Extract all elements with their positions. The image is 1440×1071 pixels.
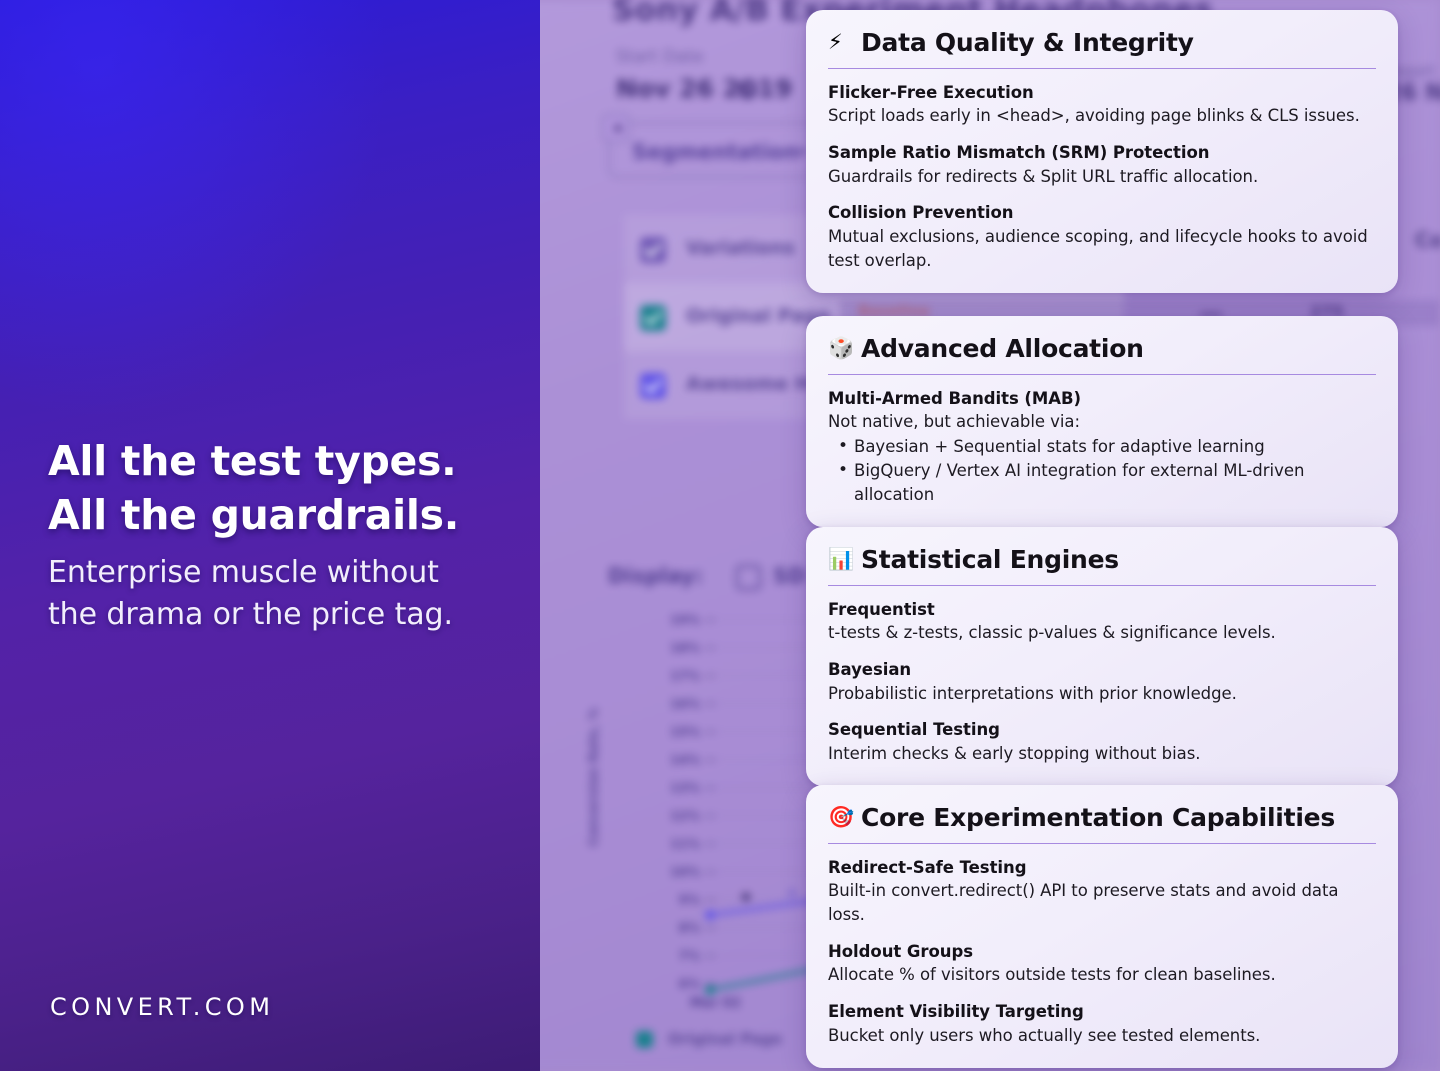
card-header: 📊 Statistical Engines bbox=[828, 546, 1376, 585]
feature-card-statistical-engines: 📊 Statistical Engines Frequentist t-test… bbox=[806, 527, 1398, 786]
feature-item: Multi-Armed Bandits (MAB) Not native, bu… bbox=[828, 388, 1376, 507]
divider bbox=[828, 843, 1376, 845]
feature-title: Sample Ratio Mismatch (SRM) Protection bbox=[828, 142, 1376, 164]
bar-chart-icon: 📊 bbox=[828, 549, 852, 570]
checkbox-original-page[interactable] bbox=[640, 305, 666, 331]
feature-card-core-experimentation: 🎯 Core Experimentation Capabilities Redi… bbox=[806, 785, 1398, 1068]
legend-label: Original Page bbox=[668, 1030, 782, 1048]
divider bbox=[828, 585, 1376, 587]
feature-item: Collision Prevention Mutual exclusions, … bbox=[828, 202, 1376, 272]
feature-desc: t-tests & z-tests, classic p-values & si… bbox=[828, 621, 1376, 645]
feature-title: Multi-Armed Bandits (MAB) bbox=[828, 388, 1376, 410]
feature-item: Bayesian Probabilistic interpretations w… bbox=[828, 659, 1376, 705]
chart-y-axis-label: Conversion Rate, % bbox=[586, 708, 600, 847]
list-item: Bayesian + Sequential stats for adaptive… bbox=[828, 435, 1376, 459]
feature-desc: Guardrails for redirects & Split URL tra… bbox=[828, 165, 1376, 189]
feature-item: Element Visibility Targeting Bucket only… bbox=[828, 1001, 1376, 1047]
feature-title: Flicker-Free Execution bbox=[828, 82, 1376, 104]
card-header: 🎲 Advanced Allocation bbox=[828, 335, 1376, 374]
page-title: All the test types. All the guardrails. bbox=[48, 434, 459, 542]
collapse-toggle-icon[interactable] bbox=[602, 114, 630, 142]
display-option-sd: SD bbox=[773, 564, 806, 588]
feature-desc: Mutual exclusions, audience scoping, and… bbox=[828, 225, 1376, 273]
y-tick: 9% bbox=[660, 892, 700, 907]
feature-title: Holdout Groups bbox=[828, 941, 1376, 963]
y-tick: 10% bbox=[660, 864, 700, 879]
feature-item: Frequentist t-tests & z-tests, classic p… bbox=[828, 599, 1376, 645]
feature-item: Redirect-Safe Testing Built-in convert.r… bbox=[828, 857, 1376, 927]
feature-desc: Not native, but achievable via: bbox=[828, 410, 1376, 434]
feature-item: Sample Ratio Mismatch (SRM) Protection G… bbox=[828, 142, 1376, 188]
list-item: BigQuery / Vertex AI integration for ext… bbox=[828, 459, 1376, 507]
feature-title: Redirect-Safe Testing bbox=[828, 857, 1376, 879]
feature-desc: Probabilistic interpretations with prior… bbox=[828, 682, 1376, 706]
headline-line-2: All the guardrails. bbox=[48, 488, 459, 542]
display-checkbox[interactable] bbox=[736, 565, 761, 590]
y-tick: 6% bbox=[660, 976, 700, 991]
y-tick: 19% bbox=[660, 612, 700, 627]
feature-item: Flicker-Free Execution Script loads earl… bbox=[828, 82, 1376, 128]
feature-desc: Bucket only users who actually see teste… bbox=[828, 1024, 1376, 1048]
y-tick: 7% bbox=[660, 948, 700, 963]
direct-hit-icon: 🎯 bbox=[828, 807, 852, 828]
feature-card-advanced-allocation: 🎲 Advanced Allocation Multi-Armed Bandit… bbox=[806, 316, 1398, 527]
feature-title: Frequentist bbox=[828, 599, 1376, 621]
feature-card-data-quality: ⚡ Data Quality & Integrity Flicker-Free … bbox=[806, 10, 1398, 293]
y-tick: 14% bbox=[660, 752, 700, 767]
card-title: Core Experimentation Capabilities bbox=[861, 804, 1335, 832]
feature-desc: Interim checks & early stopping without … bbox=[828, 742, 1376, 766]
chevron-down-icon[interactable]: ▾ bbox=[798, 142, 806, 161]
feature-desc: Allocate % of visitors outside tests for… bbox=[828, 963, 1376, 987]
feature-desc: Script loads early in <head>, avoiding p… bbox=[828, 104, 1376, 128]
segmentation-label: Segmentation bbox=[632, 140, 798, 164]
feature-title: Collision Prevention bbox=[828, 202, 1376, 224]
subhead-line-2: the drama or the price tag. bbox=[48, 594, 453, 636]
checkbox-variations[interactable] bbox=[640, 237, 666, 263]
slide-canvas: Sony A/B Experiment Headphones Start Dat… bbox=[0, 0, 1440, 1071]
feature-item: Holdout Groups Allocate % of visitors ou… bbox=[828, 941, 1376, 987]
x-tick: Mar 02 bbox=[690, 996, 741, 1011]
column-header: Co bbox=[1415, 228, 1440, 252]
feature-desc: Built-in convert.redirect() API to prese… bbox=[828, 879, 1376, 927]
y-tick: 18% bbox=[660, 640, 700, 655]
y-tick: 16% bbox=[660, 696, 700, 711]
checkbox-awesome-headphones[interactable] bbox=[640, 373, 666, 399]
clock-icon bbox=[738, 80, 757, 99]
page-subtitle: Enterprise muscle without the drama or t… bbox=[48, 552, 453, 636]
legend-swatch bbox=[636, 1031, 653, 1048]
card-title: Statistical Engines bbox=[861, 546, 1119, 574]
card-header: 🎯 Core Experimentation Capabilities bbox=[828, 804, 1376, 843]
start-date-value: Nov 26 2019 bbox=[616, 74, 792, 103]
y-tick: 11% bbox=[660, 836, 700, 851]
divider bbox=[828, 374, 1376, 376]
feature-bullet-list: Bayesian + Sequential stats for adaptive… bbox=[828, 435, 1376, 507]
high-voltage-icon: ⚡ bbox=[828, 32, 852, 53]
card-title: Data Quality & Integrity bbox=[861, 29, 1194, 57]
feature-item: Sequential Testing Interim checks & earl… bbox=[828, 719, 1376, 765]
y-tick: 17% bbox=[660, 668, 700, 683]
y-tick: 15% bbox=[660, 724, 700, 739]
y-tick: 13% bbox=[660, 780, 700, 795]
card-header: ⚡ Data Quality & Integrity bbox=[828, 29, 1376, 68]
feature-title: Sequential Testing bbox=[828, 719, 1376, 741]
list-item-label: Variations bbox=[686, 237, 795, 259]
headline-line-1: All the test types. bbox=[48, 434, 459, 488]
brand-wordmark: CONVERT.COM bbox=[50, 993, 274, 1021]
card-title: Advanced Allocation bbox=[861, 335, 1144, 363]
y-tick: 12% bbox=[660, 808, 700, 823]
feature-title: Element Visibility Targeting bbox=[828, 1001, 1376, 1023]
subhead-line-1: Enterprise muscle without bbox=[48, 552, 453, 594]
y-tick: 8% bbox=[660, 920, 700, 935]
feature-title: Bayesian bbox=[828, 659, 1376, 681]
start-date-label: Start Date bbox=[616, 47, 704, 67]
divider bbox=[828, 68, 1376, 70]
game-die-icon: 🎲 bbox=[828, 338, 852, 359]
display-label: Display: bbox=[608, 564, 703, 588]
